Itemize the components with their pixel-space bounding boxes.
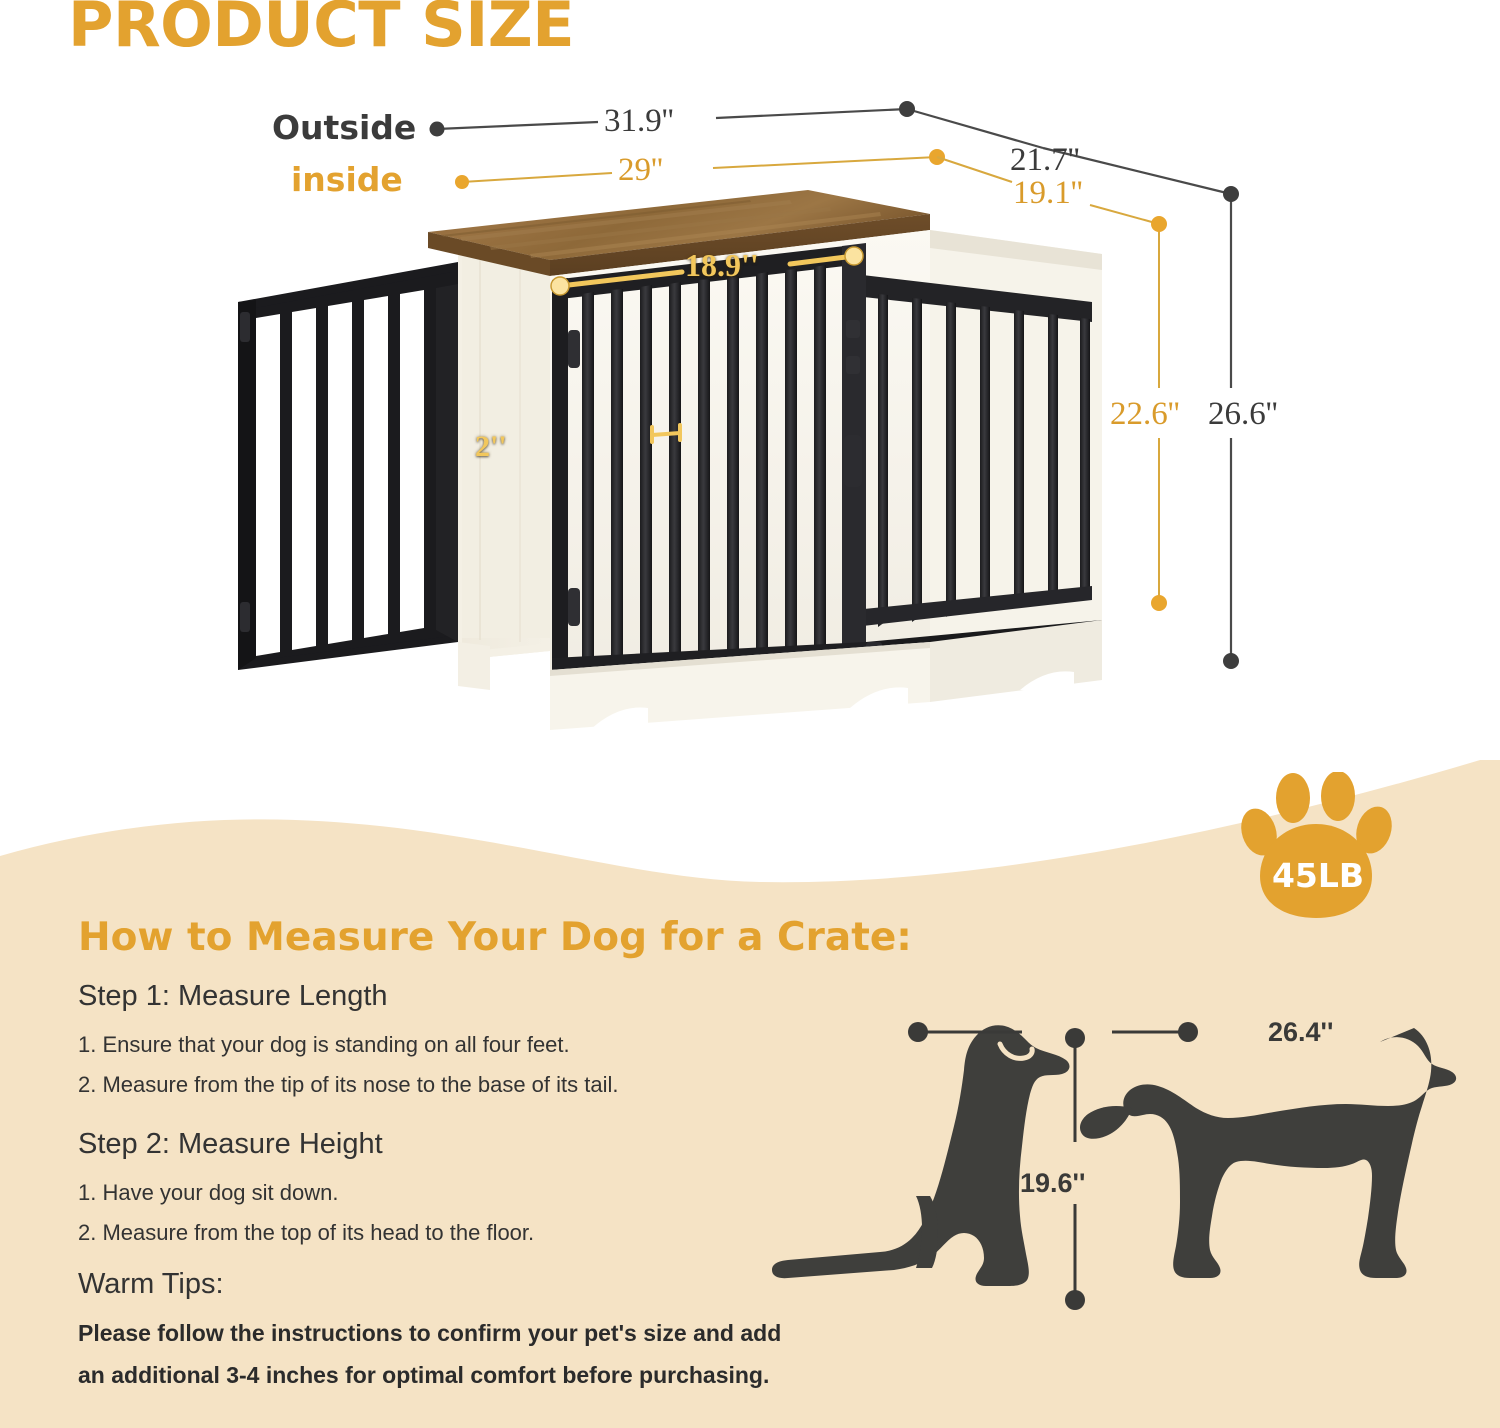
dim-outside-height: 26.6'' xyxy=(1208,396,1278,433)
dog-silhouette-group xyxy=(740,990,1500,1360)
dim-dog-height: 19.6'' xyxy=(1020,1168,1085,1199)
paw-icon xyxy=(1238,772,1398,922)
dog-length-dimension xyxy=(908,1022,1198,1042)
dim-door-width: 18.9'' xyxy=(685,247,759,284)
weight-badge: 45LB xyxy=(1238,772,1398,922)
crate-open-side-door[interactable] xyxy=(238,262,458,670)
warm-tips-line-1: Please follow the instructions to confir… xyxy=(78,1320,781,1347)
door-hinge-bottom xyxy=(240,602,250,632)
outside-legend-label: Outside xyxy=(272,108,416,147)
dim-dog-length: 26.4'' xyxy=(1268,1017,1333,1048)
door-latch-handle xyxy=(844,435,862,487)
dim-outside-width: 31.9'' xyxy=(604,103,674,140)
measure-section-title: How to Measure Your Dog for a Crate: xyxy=(78,915,912,960)
dim-inside-width: 29'' xyxy=(618,152,663,189)
outside-width-leader xyxy=(430,101,1232,194)
step1-heading: Step 1: Measure Length xyxy=(78,980,388,1013)
warm-tips-heading: Warm Tips: xyxy=(78,1268,224,1301)
weight-badge-label: 45LB xyxy=(1238,856,1398,895)
dog-sitting-silhouette xyxy=(772,1025,1069,1286)
dim-bar-spacing: 2'' xyxy=(475,430,507,464)
step1-line-1: 1. Ensure that your dog is standing on a… xyxy=(78,1032,570,1058)
door-hinge-top xyxy=(240,312,250,342)
product-image-dog-crate: 2'' 18.9'' xyxy=(230,190,1130,730)
crate-svg xyxy=(230,190,1130,730)
warm-tips-line-2: an additional 3-4 inches for optimal com… xyxy=(78,1362,769,1389)
dog-standing-silhouette xyxy=(1080,1028,1456,1278)
step2-heading: Step 2: Measure Height xyxy=(78,1128,383,1161)
infographic-root: PRODUCT SIZE xyxy=(0,0,1500,1428)
step2-line-1: 1. Have your dog sit down. xyxy=(78,1180,338,1206)
step1-line-2: 2. Measure from the tip of its nose to t… xyxy=(78,1072,619,1098)
dim-outside-depth: 21.7'' xyxy=(1010,142,1080,179)
step2-line-2: 2. Measure from the top of its head to t… xyxy=(78,1220,534,1246)
